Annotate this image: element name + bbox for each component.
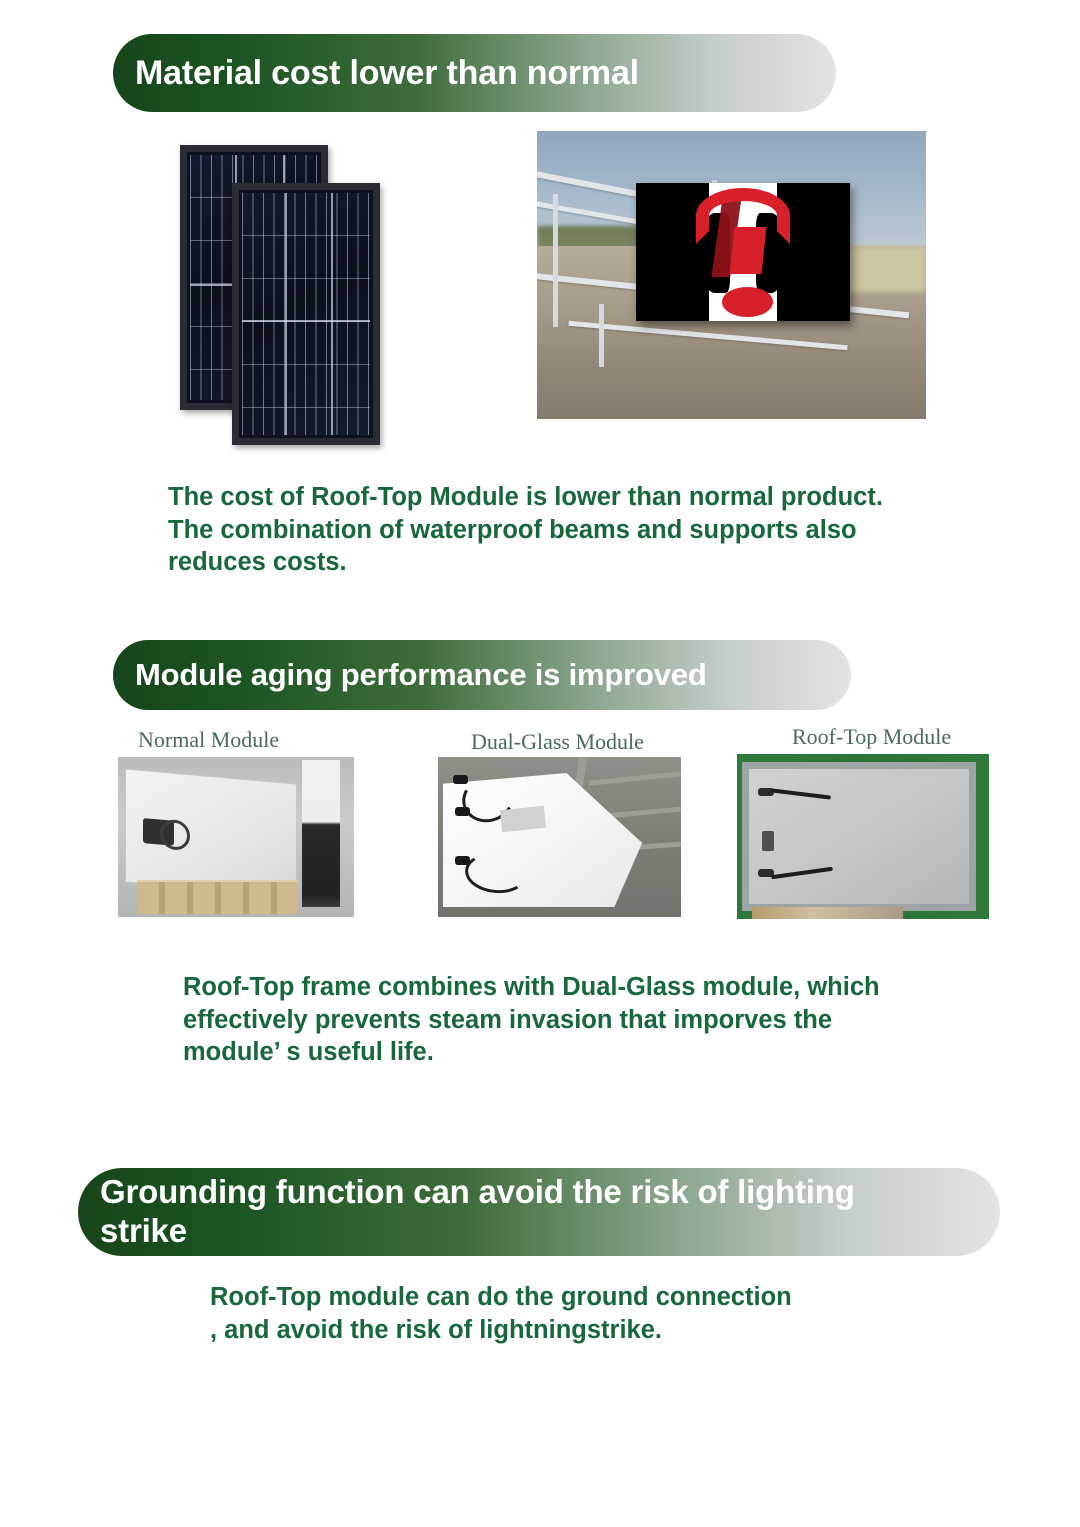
floor-strip [752,907,903,919]
question-mark-stem [730,227,767,274]
junction-box [762,831,774,851]
cable-connector [453,775,468,784]
caption-roof-top-module: Roof-Top Module [792,724,951,750]
wooden-pallet [137,880,297,914]
solar-panel-front [232,183,380,445]
section-header-material-cost: Material cost lower than normal [113,34,836,112]
caption-normal-module: Normal Module [138,727,279,753]
normal-module-photo [118,757,354,917]
module-backsheet [125,769,297,898]
section-body-material-cost: The cost of Roof-Top Module is lower tha… [168,481,968,579]
section-header-title: Material cost lower than normal [113,53,639,93]
structure-post [599,304,604,367]
section-body-grounding: Roof-Top module can do the ground connec… [210,1281,930,1347]
question-mark-graphic [636,183,850,321]
question-mark-dot [722,287,773,317]
structure-post [553,194,558,326]
section-header-title: Module aging performance is improved [113,657,707,694]
junction-box [143,818,174,845]
dual-glass-module-photo [438,757,681,917]
cable-connector [455,807,470,816]
solar-panel-pair-photo [170,145,420,445]
caption-dual-glass-module: Dual-Glass Module [471,729,644,755]
face-silhouette-left [636,183,709,321]
section-header-grounding: Grounding function can avoid the risk of… [78,1168,1000,1256]
section-header-title: Grounding function can avoid the risk of… [78,1173,855,1251]
section-body-module-aging: Roof-Top frame combines with Dual-Glass … [183,971,973,1069]
section-header-module-aging: Module aging performance is improved [113,640,851,710]
solar-panel-cell-grid [242,193,370,435]
solar-panel-busbar [242,320,370,322]
face-silhouette-right [777,183,850,321]
worker-figure [302,760,340,907]
aluminum-frame [742,762,976,911]
roof-top-module-photo [737,754,989,919]
solar-panel-divider [331,193,333,435]
mounting-structure-photo [537,131,926,419]
solar-panel-divider [285,193,287,435]
